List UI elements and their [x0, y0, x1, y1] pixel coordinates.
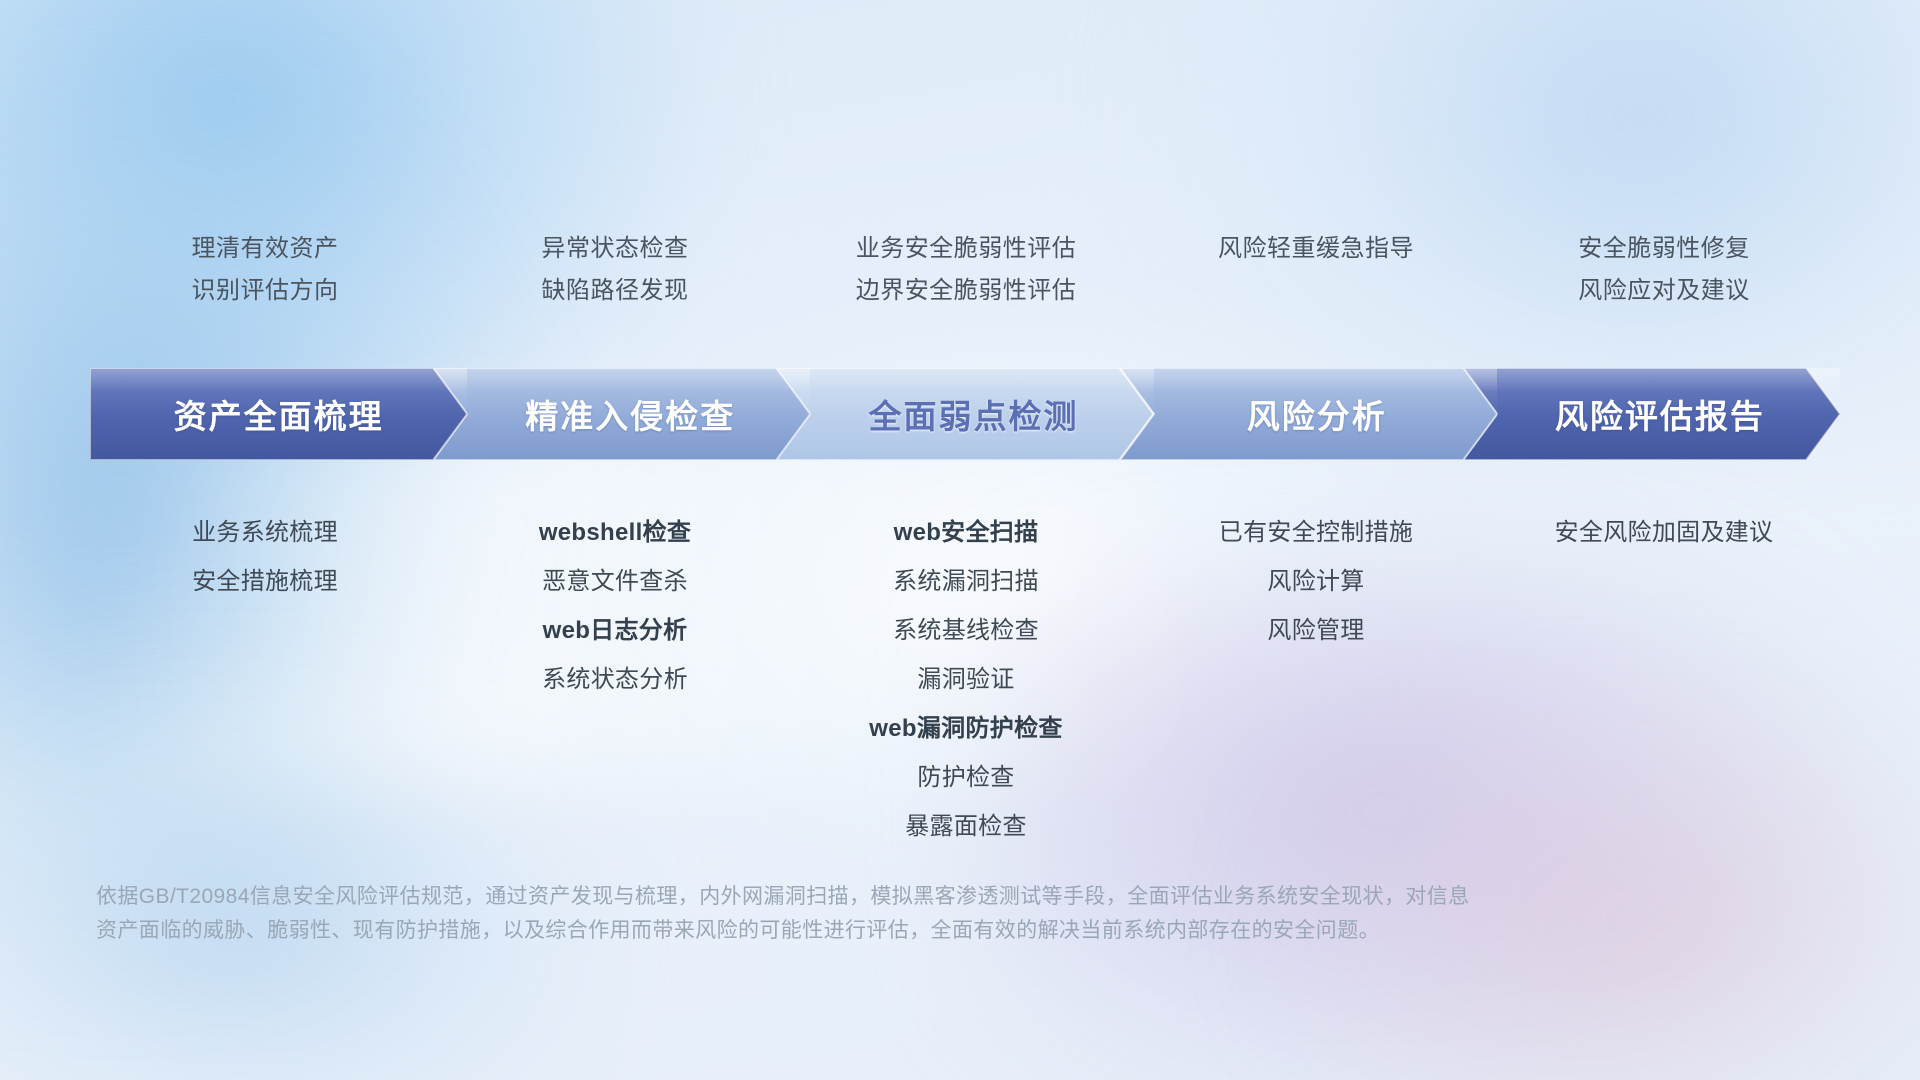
- process-stage-5[interactable]: 风险评估报告: [1463, 368, 1840, 460]
- task-item: 业务系统梳理: [90, 508, 440, 557]
- stage-label: 风险评估报告: [1555, 390, 1765, 438]
- diagram-canvas: 理清有效资产识别评估方向异常状态检查缺陷路径发现业务安全脆弱性评估边界安全脆弱性…: [0, 0, 1920, 1080]
- stage-label: 全面弱点检测: [868, 390, 1078, 438]
- task-item: 暴露面检查: [790, 802, 1142, 851]
- task-item: 防护检查: [790, 753, 1142, 802]
- task-item: 安全风险加固及建议: [1490, 508, 1838, 557]
- task-item: 安全措施梳理: [90, 557, 440, 606]
- task-list-stage-2: webshell检查恶意文件查杀web日志分析系统状态分析: [440, 508, 790, 851]
- pre-note-item: 理清有效资产: [90, 228, 440, 270]
- pre-note-item: 边界安全脆弱性评估: [790, 270, 1142, 312]
- stage-label: 风险分析: [1247, 390, 1387, 438]
- task-list-stage-3: web安全扫描系统漏洞扫描系统基线检查漏洞验证web漏洞防护检查防护检查暴露面检…: [790, 508, 1142, 851]
- task-item: 漏洞验证: [790, 655, 1142, 704]
- process-stage-2[interactable]: 精准入侵检查: [433, 368, 810, 460]
- pre-note-item: 安全脆弱性修复: [1490, 228, 1838, 270]
- pre-note-item: 风险轻重缓急指导: [1142, 228, 1490, 270]
- footer-line-2: 资产面临的威胁、脆弱性、现有防护措施，以及综合作用而带来风险的可能性进行评估，全…: [96, 914, 1716, 948]
- pre-notes-stage-1: 理清有效资产识别评估方向: [90, 228, 440, 312]
- pre-notes-stage-5: 安全脆弱性修复风险应对及建议: [1490, 228, 1838, 312]
- task-item: web安全扫描: [790, 508, 1142, 557]
- process-chevron-banner: 资产全面梳理精准入侵检查全面弱点检测风险分析风险评估报告: [90, 368, 1840, 460]
- footer-line-1: 依据GB/T20984信息安全风险评估规范，通过资产发现与梳理，内外网漏洞扫描，…: [96, 880, 1716, 914]
- task-lists-row: 业务系统梳理安全措施梳理webshell检查恶意文件查杀web日志分析系统状态分…: [90, 508, 1838, 851]
- process-stage-4[interactable]: 风险分析: [1120, 368, 1497, 460]
- task-item: 系统基线检查: [790, 606, 1142, 655]
- footer-description: 依据GB/T20984信息安全风险评估规范，通过资产发现与梳理，内外网漏洞扫描，…: [96, 880, 1716, 948]
- process-stage-3[interactable]: 全面弱点检测: [776, 368, 1153, 460]
- process-stage-1[interactable]: 资产全面梳理: [90, 368, 467, 460]
- task-list-stage-5: 安全风险加固及建议: [1490, 508, 1838, 851]
- task-item: 系统状态分析: [440, 655, 790, 704]
- task-list-stage-4: 已有安全控制措施风险计算风险管理: [1142, 508, 1490, 851]
- task-item: web日志分析: [440, 606, 790, 655]
- diagram-content: 理清有效资产识别评估方向异常状态检查缺陷路径发现业务安全脆弱性评估边界安全脆弱性…: [0, 0, 1920, 1080]
- pre-note-item: 缺陷路径发现: [440, 270, 790, 312]
- pre-note-item: 异常状态检查: [440, 228, 790, 270]
- pre-note-item: 识别评估方向: [90, 270, 440, 312]
- task-list-stage-1: 业务系统梳理安全措施梳理: [90, 508, 440, 851]
- task-item: 风险计算: [1142, 557, 1490, 606]
- pre-notes-stage-2: 异常状态检查缺陷路径发现: [440, 228, 790, 312]
- pre-notes-stage-4: 风险轻重缓急指导: [1142, 228, 1490, 312]
- stage-label: 资产全面梳理: [174, 390, 384, 438]
- task-item: web漏洞防护检查: [790, 704, 1142, 753]
- task-item: webshell检查: [440, 508, 790, 557]
- pre-note-item: 业务安全脆弱性评估: [790, 228, 1142, 270]
- task-item: 已有安全控制措施: [1142, 508, 1490, 557]
- pre-notes-stage-3: 业务安全脆弱性评估边界安全脆弱性评估: [790, 228, 1142, 312]
- stage-label: 精准入侵检查: [525, 390, 735, 438]
- pre-notes-row: 理清有效资产识别评估方向异常状态检查缺陷路径发现业务安全脆弱性评估边界安全脆弱性…: [90, 228, 1838, 312]
- task-item: 系统漏洞扫描: [790, 557, 1142, 606]
- task-item: 风险管理: [1142, 606, 1490, 655]
- pre-note-item: 风险应对及建议: [1490, 270, 1838, 312]
- task-item: 恶意文件查杀: [440, 557, 790, 606]
